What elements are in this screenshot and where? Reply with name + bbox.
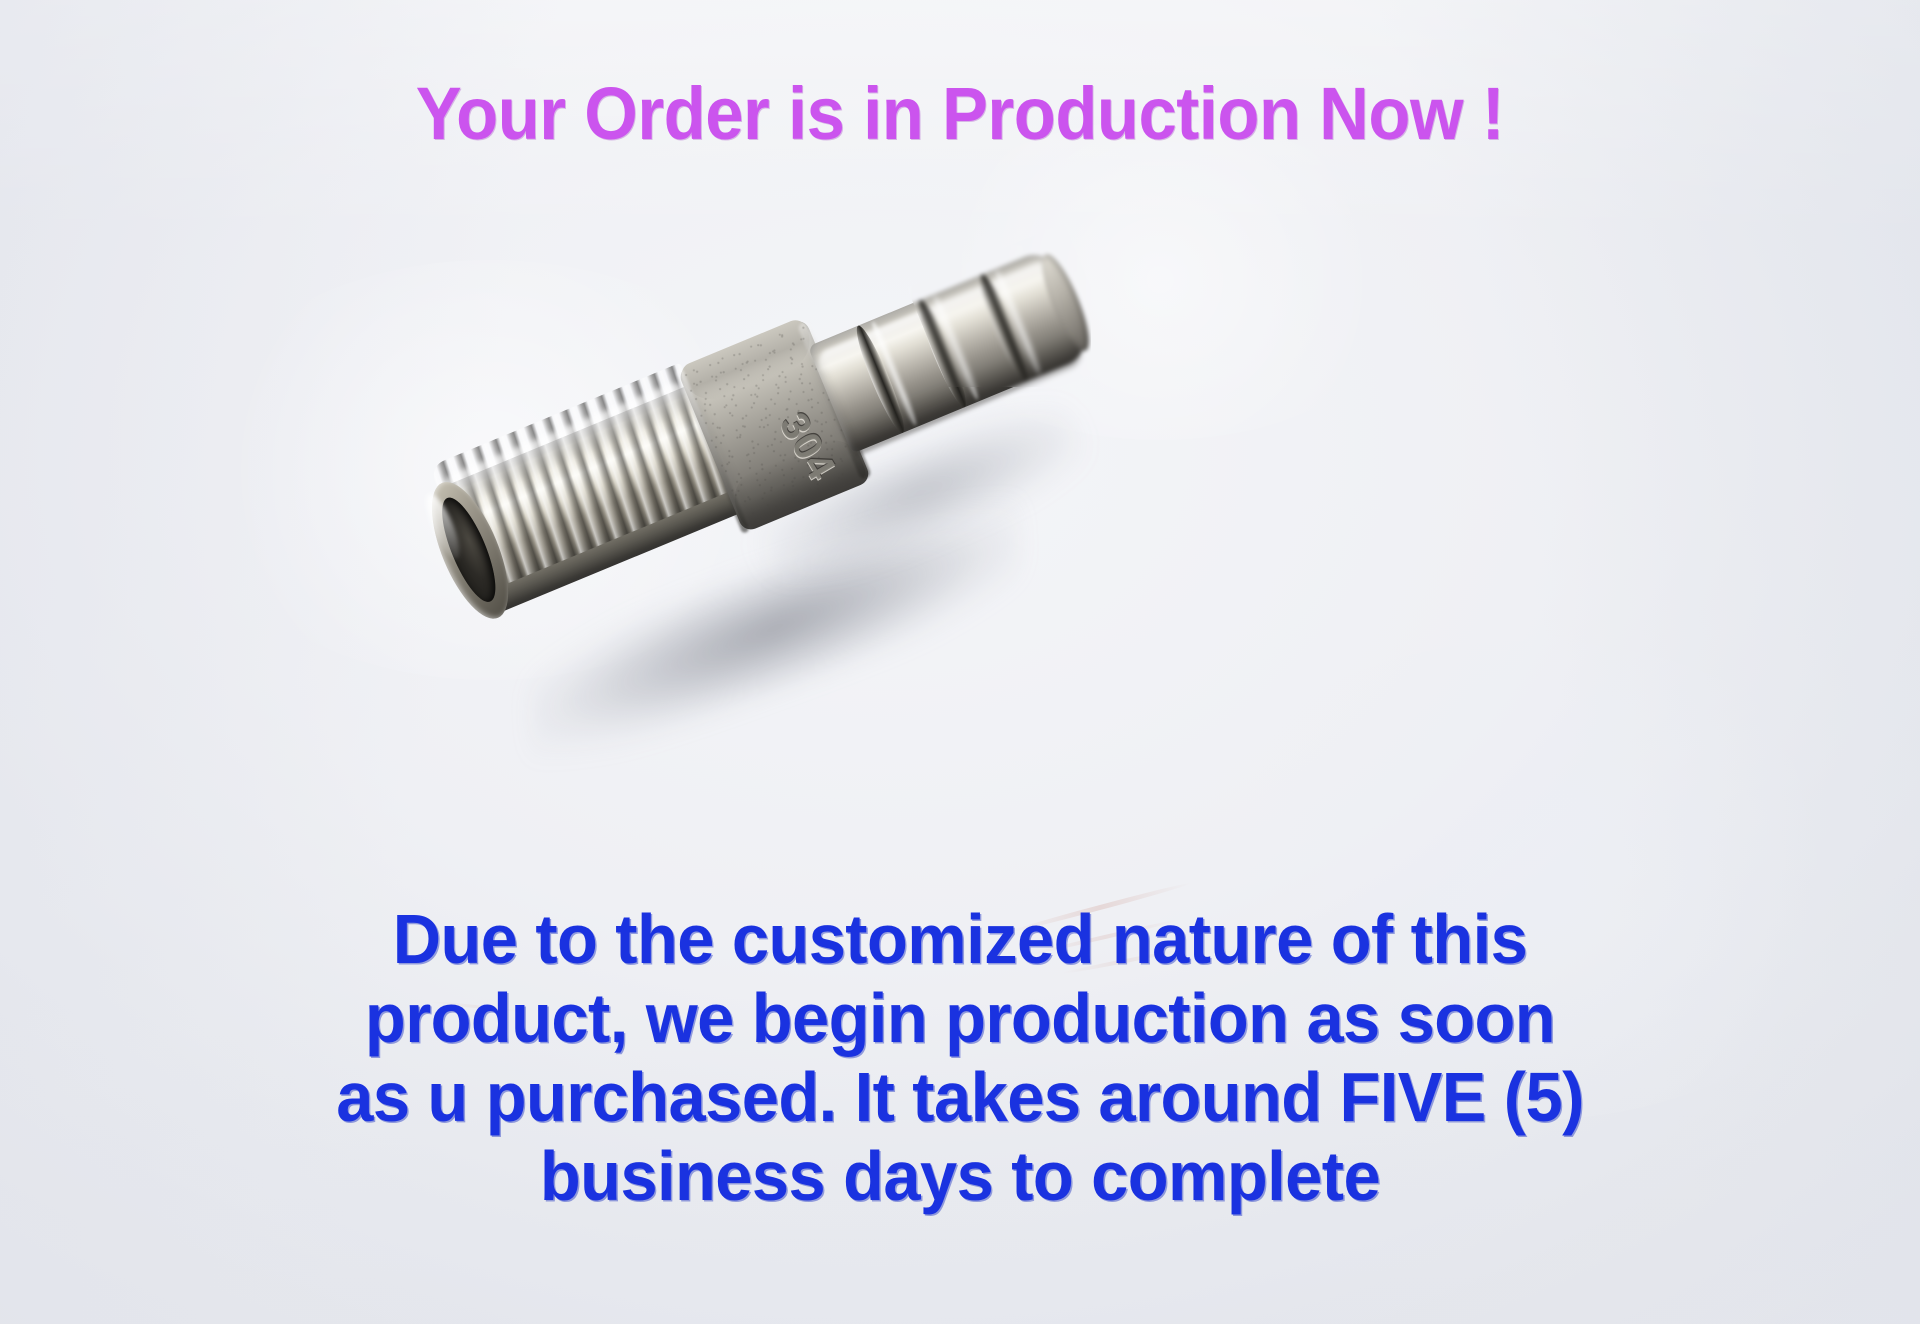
notice-line: as u purchased. It takes around FIVE (5) xyxy=(129,1058,1791,1137)
notice-line: product, we begin production as soon xyxy=(129,979,1791,1058)
notice-line: business days to complete xyxy=(129,1137,1791,1216)
production-notice: Due to the customized nature of this pro… xyxy=(129,900,1791,1216)
product-photo-hose-barb-fitting: 304 xyxy=(455,300,1155,760)
notice-line: Due to the customized nature of this xyxy=(129,900,1791,979)
headline-order-in-production: Your Order is in Production Now ! xyxy=(67,76,1853,151)
promotional-image: Your Order is in Production Now ! 304 xyxy=(0,0,1920,1324)
